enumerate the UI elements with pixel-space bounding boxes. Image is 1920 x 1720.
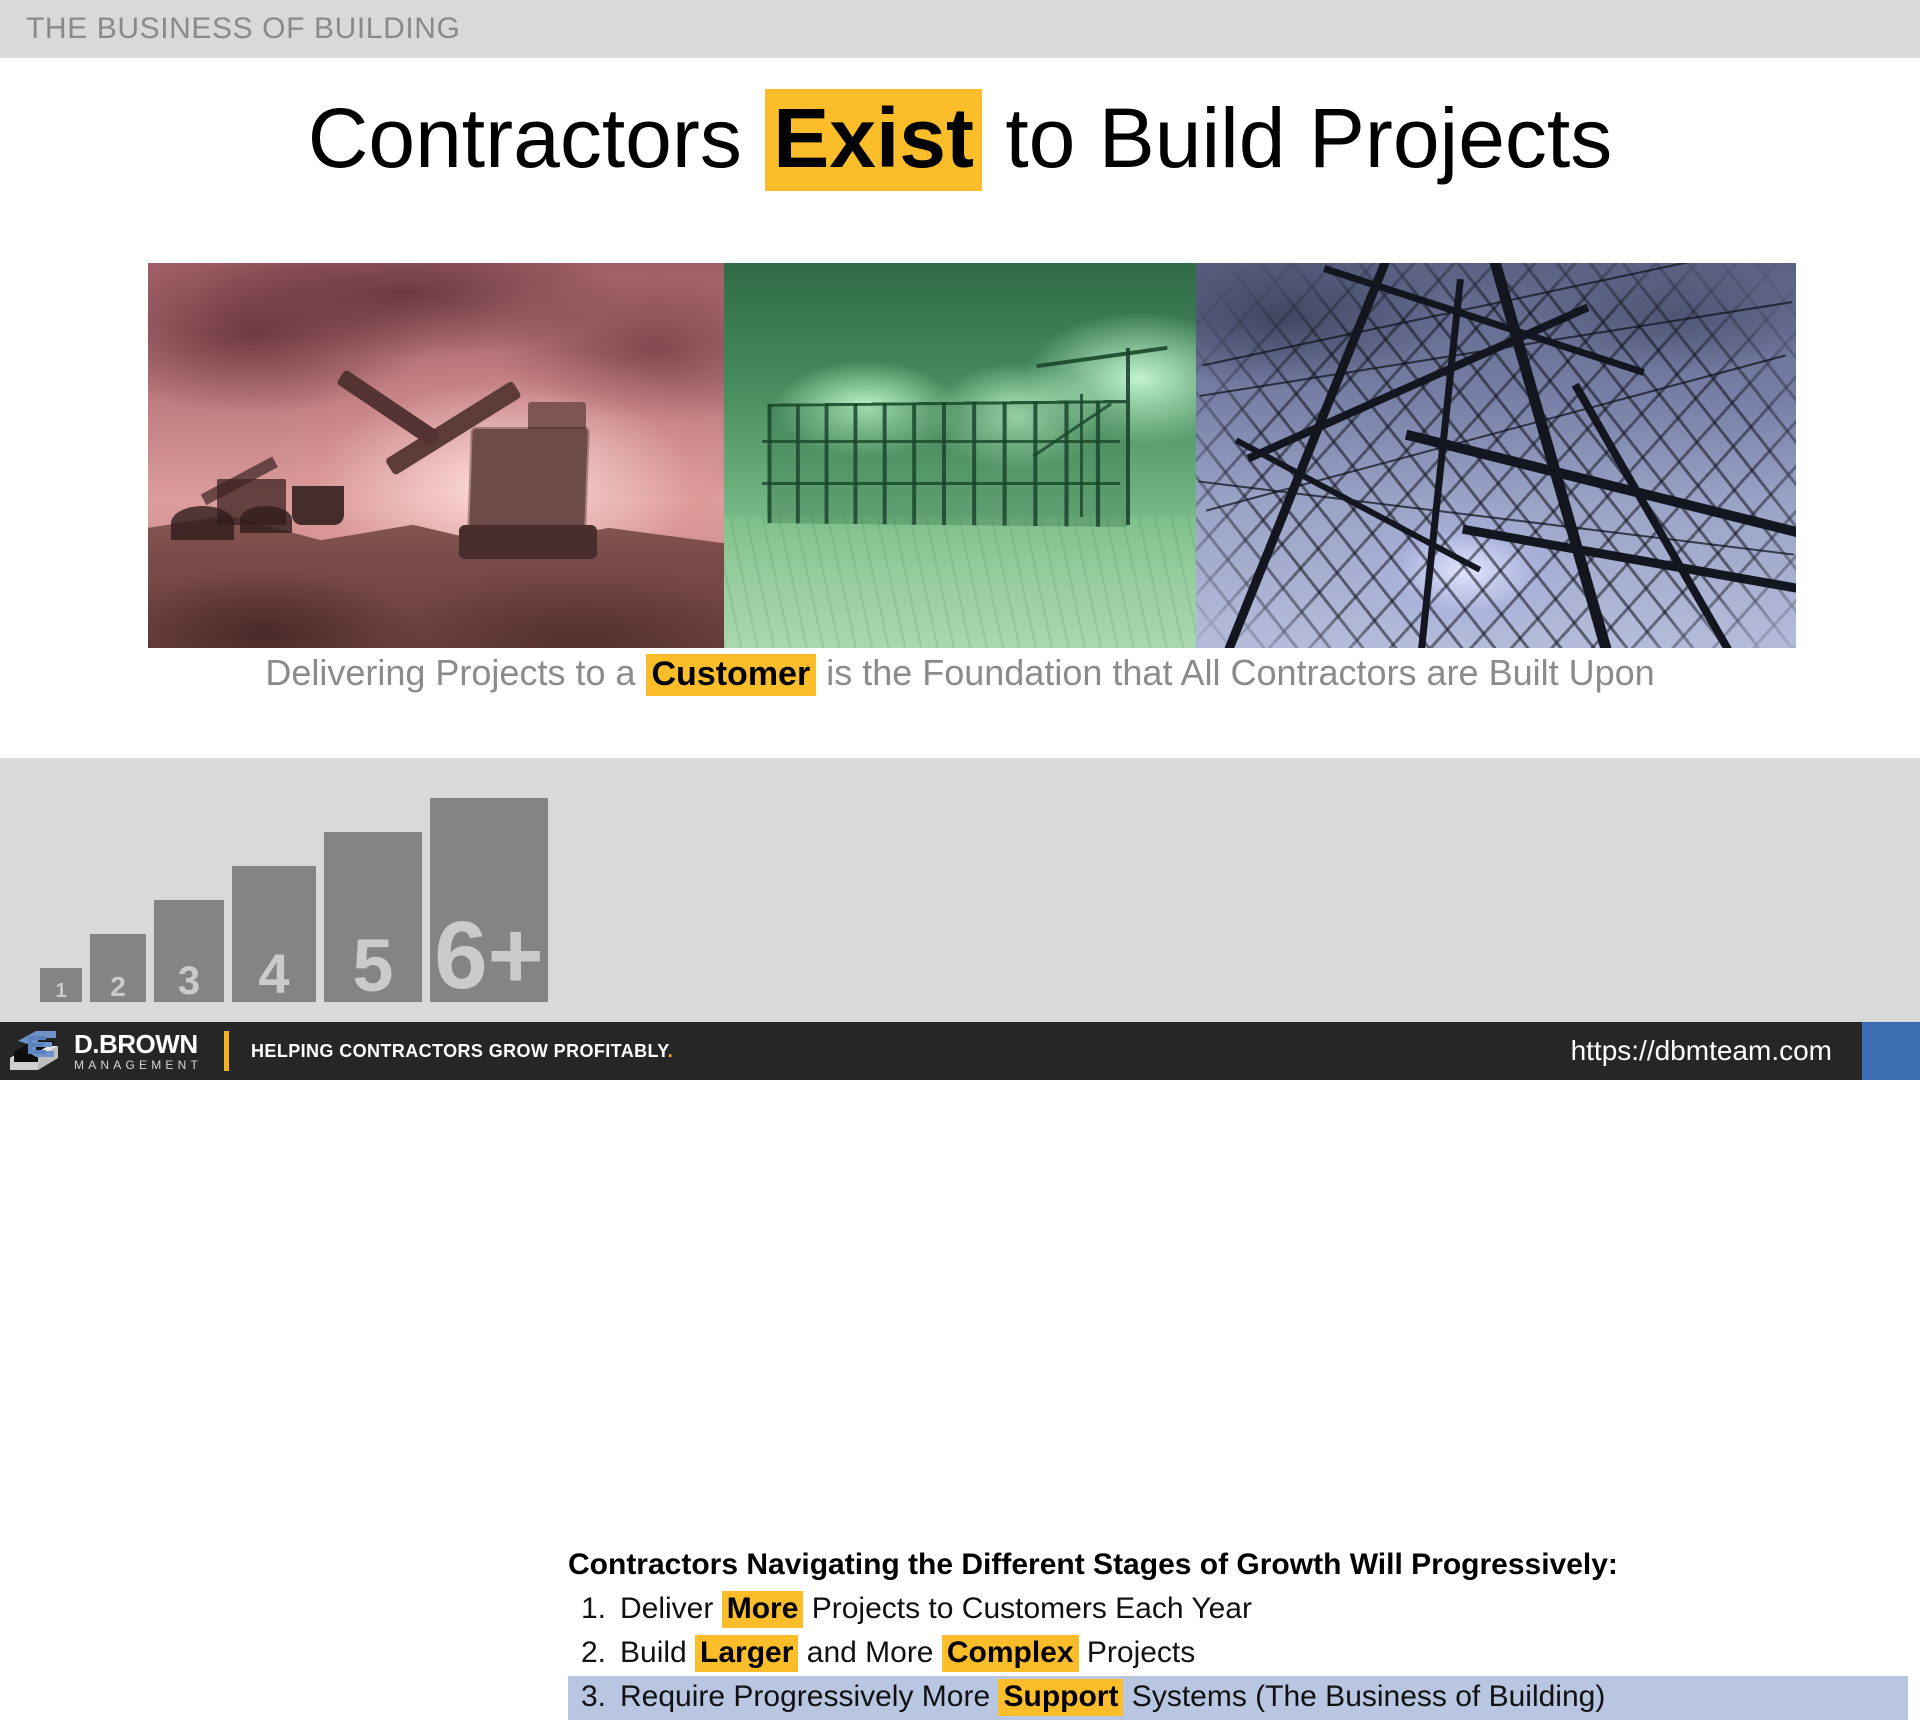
bullet-item-2: 2.Build Larger and More Complex Projects: [568, 1632, 1908, 1676]
bullet-list: 1.Deliver More Projects to Customers Eac…: [568, 1588, 1908, 1720]
bullet-text-part-1: Require Progressively More: [620, 1680, 998, 1713]
title-part-1: Contractors: [308, 91, 766, 185]
photo-transmission-tower: [1196, 263, 1796, 648]
excavator-bucket-icon: [292, 486, 344, 525]
brand-name: D.BROWN: [74, 1031, 202, 1057]
bullet-text-part-3: Projects: [1079, 1636, 1196, 1669]
title-highlight-exist: Exist: [765, 89, 982, 191]
bar-stage-4: 4: [232, 866, 316, 1002]
tree-icon: [171, 506, 234, 541]
footer-tagline: HELPING CONTRACTORS GROW PROFITABLY.: [251, 1041, 673, 1062]
footer-tagline-dot: .: [668, 1041, 673, 1061]
dbrown-logo-icon: [6, 1028, 62, 1074]
bullet-item-3: 3.Require Progressively More Support Sys…: [568, 1676, 1908, 1720]
bullet-number: 1.: [568, 1592, 620, 1626]
caption-part-2: is the Foundation that All Contractors a…: [816, 652, 1654, 693]
bullet-text: Require Progressively More Support Syste…: [620, 1680, 1605, 1714]
ground-layer-green: [724, 517, 1196, 648]
bar-label: 6+: [434, 912, 543, 1002]
bullet-highlight-1: Support: [998, 1679, 1123, 1716]
caption-highlight-customer: Customer: [646, 654, 817, 696]
photo-caption: Delivering Projects to a Customer is the…: [0, 652, 1920, 694]
bullet-number: 3.: [568, 1680, 620, 1714]
bullet-number: 2.: [568, 1636, 620, 1670]
brand-lockup: D.BROWN MANAGEMENT: [74, 1031, 202, 1071]
stages-of-growth-bar-chart: 123456+: [40, 778, 550, 1002]
footer-divider: [224, 1031, 229, 1071]
excavator-body-icon: [469, 429, 588, 529]
caption-part-1: Delivering Projects to a: [265, 652, 645, 693]
footer-bar: D.BROWN MANAGEMENT HELPING CONTRACTORS G…: [0, 1022, 1920, 1080]
bullet-text-part-2: Projects to Customers Each Year: [803, 1592, 1252, 1625]
photo-steel-frame-building: [724, 263, 1196, 648]
photo-strip: [148, 263, 1796, 648]
bar-stage-6+: 6+: [430, 798, 548, 1002]
steel-beam-icon: [762, 440, 1121, 443]
brand-subtitle: MANAGEMENT: [74, 1059, 202, 1071]
crawler-crane-mast-icon: [1126, 348, 1130, 525]
bar-label: 3: [178, 963, 200, 1002]
bullet-text-part-2: and More: [798, 1636, 941, 1669]
bullet-text: Deliver More Projects to Customers Each …: [620, 1592, 1252, 1626]
bar-stage-2: 2: [90, 934, 146, 1002]
excavator-track-icon: [459, 525, 597, 560]
bar-label: 2: [110, 974, 126, 1002]
footer-tagline-text: HELPING CONTRACTORS GROW PROFITABLY: [251, 1041, 668, 1061]
bar-label: 1: [55, 982, 66, 1002]
footer-url[interactable]: https://dbmteam.com: [1571, 1035, 1832, 1067]
bullet-highlight-2: Complex: [942, 1635, 1079, 1672]
tower-crane-mast-icon: [1080, 394, 1083, 517]
bar-stage-1: 1: [40, 968, 82, 1002]
bar-label: 5: [352, 932, 393, 1002]
bullets-heading: Contractors Navigating the Different Sta…: [568, 1548, 1908, 1582]
eyebrow-band: THE BUSINESS OF BUILDING: [0, 0, 1920, 58]
title-part-2: to Build Projects: [982, 91, 1612, 185]
bullet-text: Build Larger and More Complex Projects: [620, 1636, 1195, 1670]
photo-excavator-earthwork: [148, 263, 724, 648]
bullets-block: Contractors Navigating the Different Sta…: [568, 1548, 1908, 1720]
bar-stage-5: 5: [324, 832, 422, 1002]
bullet-highlight-1: More: [722, 1591, 804, 1628]
bullet-item-1: 1.Deliver More Projects to Customers Eac…: [568, 1588, 1908, 1632]
bar-label: 4: [258, 948, 289, 1002]
bullet-text-part-1: Build: [620, 1636, 695, 1669]
eyebrow-title: THE BUSINESS OF BUILDING: [26, 12, 460, 46]
steel-frame-icon: [767, 400, 1126, 527]
bullet-text-part-2: Systems (The Business of Building): [1123, 1680, 1605, 1713]
bar-stage-3: 3: [154, 900, 224, 1002]
slide-title: Contractors Exist to Build Projects: [0, 96, 1920, 180]
bullet-highlight-1: Larger: [695, 1635, 798, 1672]
bullet-text-part-1: Deliver: [620, 1592, 722, 1625]
footer-accent-block: [1862, 1022, 1920, 1080]
tree-icon: [240, 506, 292, 533]
steel-beam-icon: [762, 482, 1121, 485]
lower-section: 123456+ Contractors Navigating the Diffe…: [0, 758, 1920, 1022]
